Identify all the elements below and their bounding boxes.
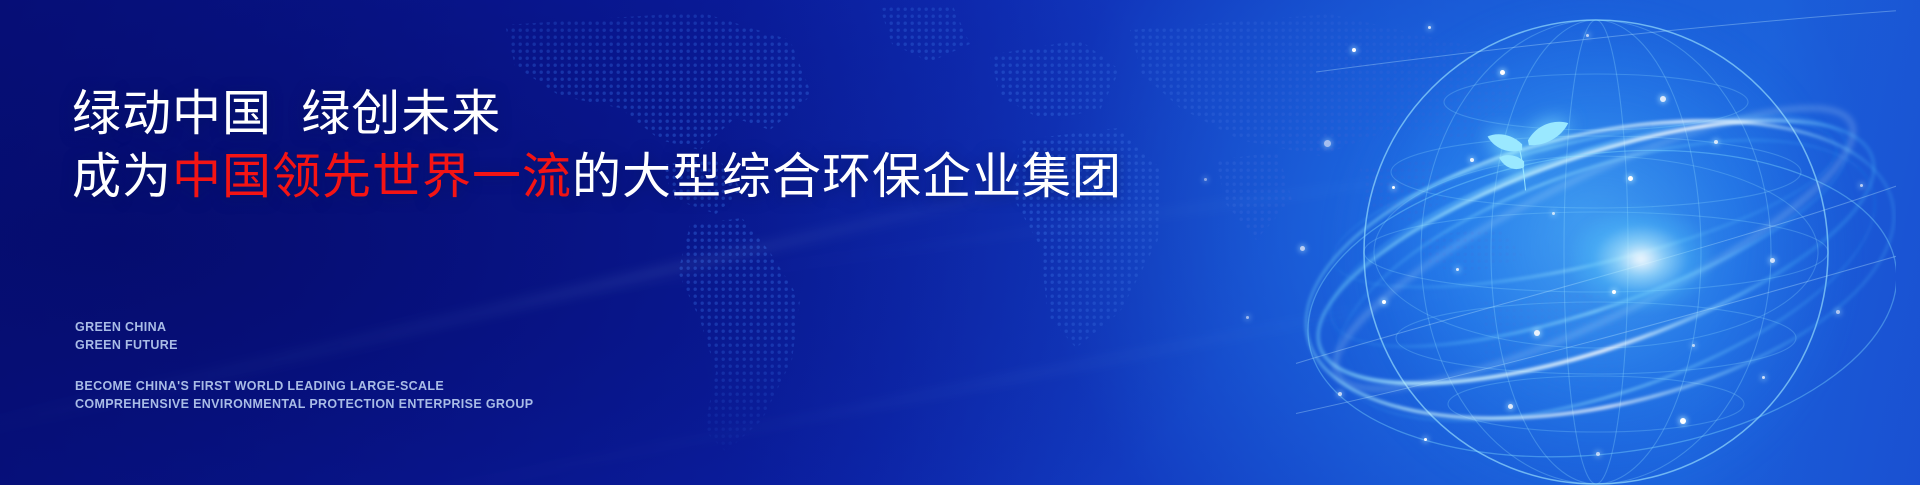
hero-banner: 绿动中国 绿创未来 成为中国领先世界一流的大型综合环保企业集团 GREEN CH…: [0, 0, 1920, 485]
tagline-line-1: BECOME CHINA'S FIRST WORLD LEADING LARGE…: [75, 377, 533, 395]
headline-line-2: 成为中国领先世界一流的大型综合环保企业集团: [72, 149, 1252, 206]
headline-line-1: 绿动中国 绿创未来: [72, 86, 1252, 143]
slogan-english: GREEN CHINA GREEN FUTURE: [75, 318, 178, 355]
headline-suffix: 的大型综合环保企业集团: [572, 150, 1122, 204]
slogan-line-1: GREEN CHINA: [75, 318, 178, 336]
tagline-line-2: COMPREHENSIVE ENVIRONMENTAL PROTECTION E…: [75, 395, 533, 413]
tagline-english: BECOME CHINA'S FIRST WORLD LEADING LARGE…: [75, 377, 533, 414]
headline-block: 绿动中国 绿创未来 成为中国领先世界一流的大型综合环保企业集团: [72, 86, 1252, 206]
slogan-line-2: GREEN FUTURE: [75, 336, 178, 354]
headline-accent: 中国领先世界一流: [172, 150, 572, 204]
headline-prefix: 成为: [72, 150, 172, 204]
